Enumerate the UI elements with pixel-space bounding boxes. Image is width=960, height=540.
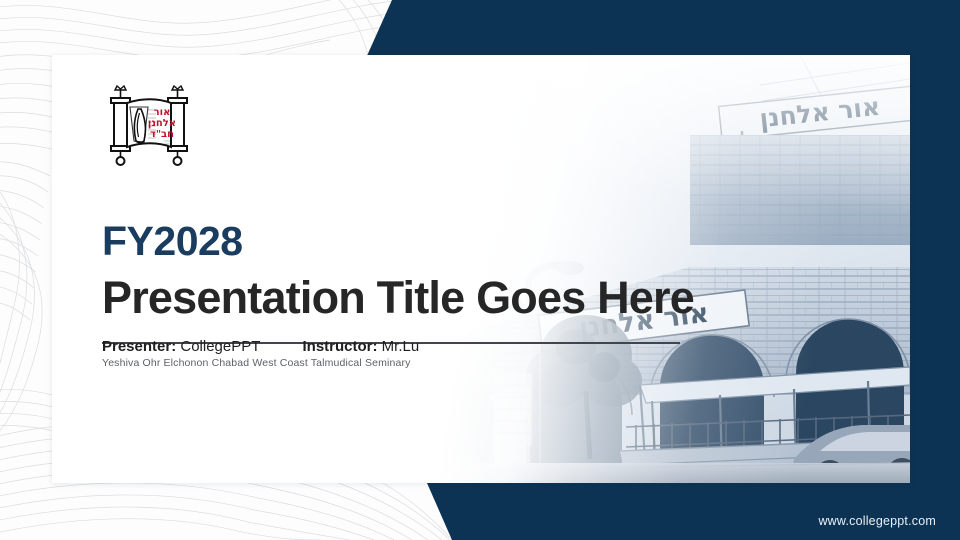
presenter-label: Presenter: <box>102 338 176 355</box>
organization-name: Yeshiva Ohr Elchonon Chabad West Coast T… <box>102 357 802 369</box>
credits-line: Presenter: CollegePPT Instructor: Mr.Lu <box>102 338 419 355</box>
fiscal-year-label: FY2028 <box>102 220 802 263</box>
svg-text:חב"ד: חב"ד <box>150 129 174 140</box>
page-title: Presentation Title Goes Here <box>102 273 802 323</box>
navy-shape-right-edge <box>910 58 960 483</box>
instructor-label: Instructor: <box>303 338 378 355</box>
torah-scroll-logo: אור אלחנן חב"ד <box>100 85 200 167</box>
navy-shape-top <box>366 0 960 58</box>
instructor-name: Mr.Lu <box>382 338 420 355</box>
svg-text:אור: אור <box>154 107 171 118</box>
footer-website-url[interactable]: www.collegeppt.com <box>818 514 936 528</box>
presenter-name: CollegePPT <box>180 338 260 355</box>
presentation-slide: אור אלחנן <box>0 0 960 540</box>
slide-content-card: אור אלחנן <box>52 55 910 483</box>
navy-shape-bottom <box>427 483 960 540</box>
svg-text:אלחנן: אלחנן <box>148 118 176 129</box>
